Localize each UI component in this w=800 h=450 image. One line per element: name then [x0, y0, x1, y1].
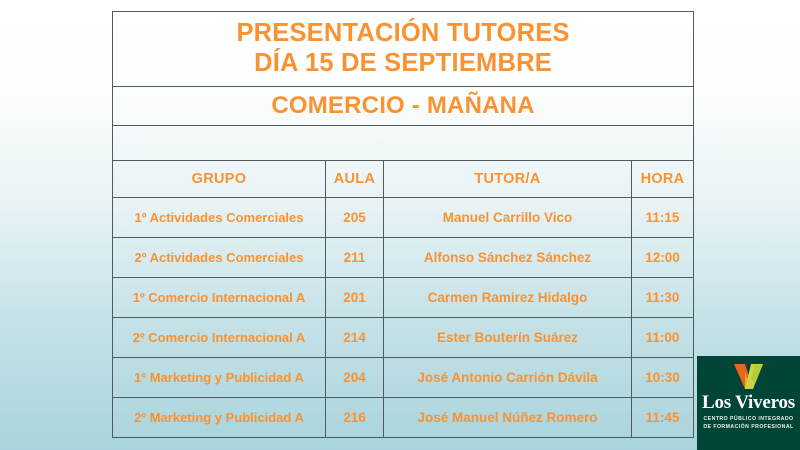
spacer-row	[113, 126, 694, 161]
cell-aula: 204	[326, 358, 384, 398]
cell-hora: 10:30	[632, 358, 694, 398]
table-row: 1º Actividades Comerciales 205 Manuel Ca…	[113, 198, 694, 238]
slide-title: PRESENTACIÓN TUTORES DÍA 15 DE SEPTIEMBR…	[113, 12, 694, 87]
cell-grupo: 1º Marketing y Publicidad A	[113, 358, 326, 398]
table-row: 2º Comercio Internacional A 214 Ester Bo…	[113, 318, 694, 358]
cell-hora: 11:30	[632, 278, 694, 318]
cell-grupo: 2º Marketing y Publicidad A	[113, 398, 326, 438]
column-header-aula: AULA	[326, 161, 384, 198]
logo-subtitle: CENTRO PÚBLICO INTEGRADO DE FORMACIÓN PR…	[697, 415, 800, 432]
slide-canvas: PRESENTACIÓN TUTORES DÍA 15 DE SEPTIEMBR…	[0, 0, 800, 450]
logo-subtitle-line-1: CENTRO PÚBLICO INTEGRADO	[697, 415, 800, 423]
cell-aula: 214	[326, 318, 384, 358]
cell-tutor: Alfonso Sánchez Sánchez	[384, 238, 632, 278]
table-row: 1º Comercio Internacional A 201 Carmen R…	[113, 278, 694, 318]
cell-tutor: Carmen Ramirez Hidalgo	[384, 278, 632, 318]
column-header-hora: HORA	[632, 161, 694, 198]
cell-grupo: 1º Actividades Comerciales	[113, 198, 326, 238]
logo-subtitle-line-2: DE FORMACIÓN PROFESIONAL	[697, 423, 800, 431]
cell-aula: 201	[326, 278, 384, 318]
cell-tutor: Manuel Carrillo Vico	[384, 198, 632, 238]
column-header-tutor: TUTOR/A	[384, 161, 632, 198]
cell-grupo: 2º Actividades Comerciales	[113, 238, 326, 278]
table-row: 2º Marketing y Publicidad A 216 José Man…	[113, 398, 694, 438]
cell-aula: 216	[326, 398, 384, 438]
cell-grupo: 1º Comercio Internacional A	[113, 278, 326, 318]
title-line-1: PRESENTACIÓN TUTORES	[113, 19, 693, 49]
title-row: PRESENTACIÓN TUTORES DÍA 15 DE SEPTIEMBR…	[113, 12, 694, 87]
title-line-2: DÍA 15 DE SEPTIEMBRE	[113, 49, 693, 79]
cell-hora: 12:00	[632, 238, 694, 278]
column-header-grupo: GRUPO	[113, 161, 326, 198]
subtitle-row: COMERCIO - MAÑANA	[113, 87, 694, 126]
spacer-cell	[113, 126, 694, 161]
schedule-table: PRESENTACIÓN TUTORES DÍA 15 DE SEPTIEMBR…	[112, 11, 694, 438]
cell-aula: 211	[326, 238, 384, 278]
slide-subtitle: COMERCIO - MAÑANA	[113, 87, 694, 126]
cell-tutor: José Manuel Núñez Romero	[384, 398, 632, 438]
table-row: 1º Marketing y Publicidad A 204 José Ant…	[113, 358, 694, 398]
cell-tutor: Ester Bouterín Suárez	[384, 318, 632, 358]
table-header-row: GRUPO AULA TUTOR/A HORA	[113, 161, 694, 198]
cell-grupo: 2º Comercio Internacional A	[113, 318, 326, 358]
cell-hora: 11:45	[632, 398, 694, 438]
logo-wordmark: Los Viveros	[697, 392, 800, 414]
institution-logo: Los Viveros CENTRO PÚBLICO INTEGRADO DE …	[697, 356, 800, 450]
cell-hora: 11:15	[632, 198, 694, 238]
letter-v-logo-icon	[697, 362, 800, 392]
table-row: 2º Actividades Comerciales 211 Alfonso S…	[113, 238, 694, 278]
cell-tutor: José Antonio Carrión Dávila	[384, 358, 632, 398]
cell-aula: 205	[326, 198, 384, 238]
cell-hora: 11:00	[632, 318, 694, 358]
